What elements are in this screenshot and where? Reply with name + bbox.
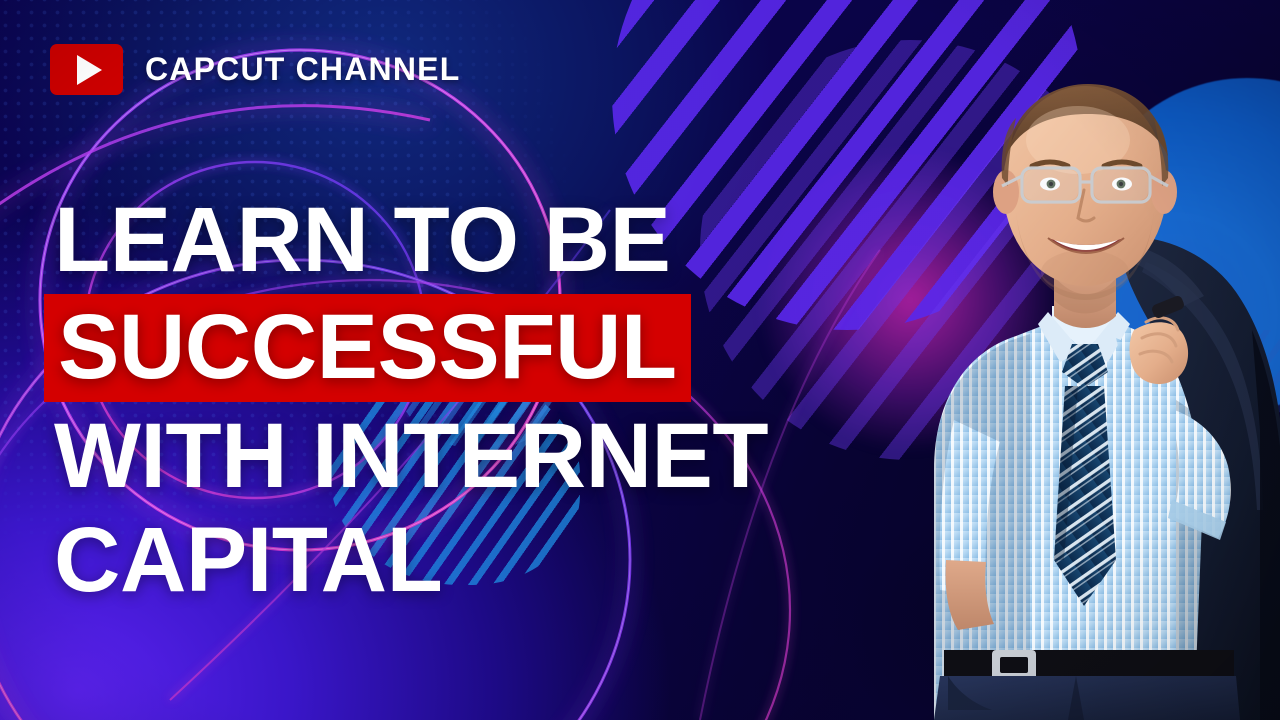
headline-block: LEARN TO BE SUCCESSFUL WITH INTERNET CAP… xyxy=(54,188,884,612)
play-triangle-glyph xyxy=(77,55,102,85)
youtube-play-icon[interactable] xyxy=(50,44,123,95)
channel-badge[interactable]: CAPCUT CHANNEL xyxy=(50,44,460,95)
youtube-thumbnail: CAPCUT CHANNEL LEARN TO BE SUCCESSFUL WI… xyxy=(0,0,1280,720)
subject-photo-businessman xyxy=(816,0,1280,720)
headline-line-1: LEARN TO BE xyxy=(54,188,884,292)
headline-line-2-row: SUCCESSFUL xyxy=(54,294,884,402)
headline-line-3: WITH INTERNET xyxy=(54,404,884,508)
headline-line-2-highlighted: SUCCESSFUL xyxy=(44,294,691,402)
channel-name-label: CAPCUT CHANNEL xyxy=(145,51,460,88)
headline-line-4: CAPITAL xyxy=(54,508,884,612)
